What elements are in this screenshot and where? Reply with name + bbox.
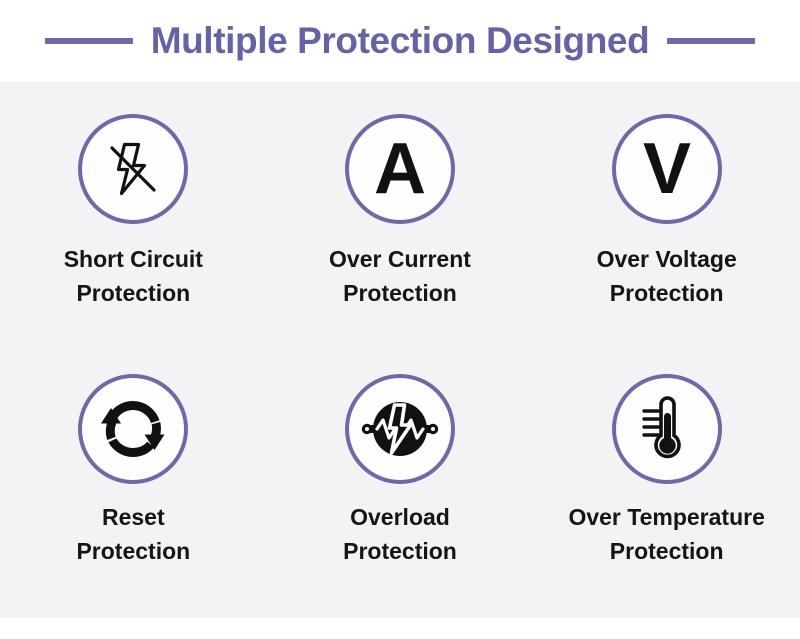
feature-label: Overload Protection — [343, 500, 457, 568]
letter-a-ampere-icon: A — [357, 126, 443, 212]
svg-text:V: V — [643, 129, 691, 209]
icon-badge — [78, 374, 188, 484]
footer-whitespace — [0, 618, 800, 639]
icon-badge — [78, 114, 188, 224]
feature-card-short-circuit: Short Circuit Protection — [0, 82, 267, 350]
slashed-lightning-bolt-icon — [95, 131, 171, 207]
feature-card-over-temperature: Over Temperature Protection — [533, 350, 800, 618]
icon-badge — [612, 374, 722, 484]
feature-card-over-voltage: V Over Voltage Protection — [533, 82, 800, 350]
feature-card-reset: Reset Protection — [0, 350, 267, 618]
circular-arrows-reset-icon — [94, 390, 172, 468]
title-rule-left-icon — [45, 38, 133, 44]
features-panel: Short Circuit Protection A Over Current … — [0, 82, 800, 618]
icon-badge — [345, 374, 455, 484]
overload-circuit-bolt-icon — [358, 387, 442, 471]
multiple-protection-infographic: Multiple Protection Designed Short Circu… — [0, 0, 800, 639]
icon-badge: A — [345, 114, 455, 224]
feature-card-overload: Overload Protection — [267, 350, 534, 618]
feature-card-over-current: A Over Current Protection — [267, 82, 534, 350]
feature-label: Reset Protection — [76, 500, 190, 568]
feature-label: Short Circuit Protection — [64, 242, 203, 310]
letter-v-volt-icon: V — [624, 126, 710, 212]
poster-header: Multiple Protection Designed — [0, 0, 800, 82]
feature-label: Over Current Protection — [329, 242, 471, 310]
title-rule-right-icon — [667, 38, 755, 44]
thermometer-icon — [627, 389, 707, 469]
feature-label: Over Temperature Protection — [568, 500, 764, 568]
svg-text:A: A — [374, 129, 426, 209]
page-title: Multiple Protection Designed — [151, 22, 650, 59]
features-grid: Short Circuit Protection A Over Current … — [0, 82, 800, 618]
feature-label: Over Voltage Protection — [597, 242, 737, 310]
icon-badge: V — [612, 114, 722, 224]
